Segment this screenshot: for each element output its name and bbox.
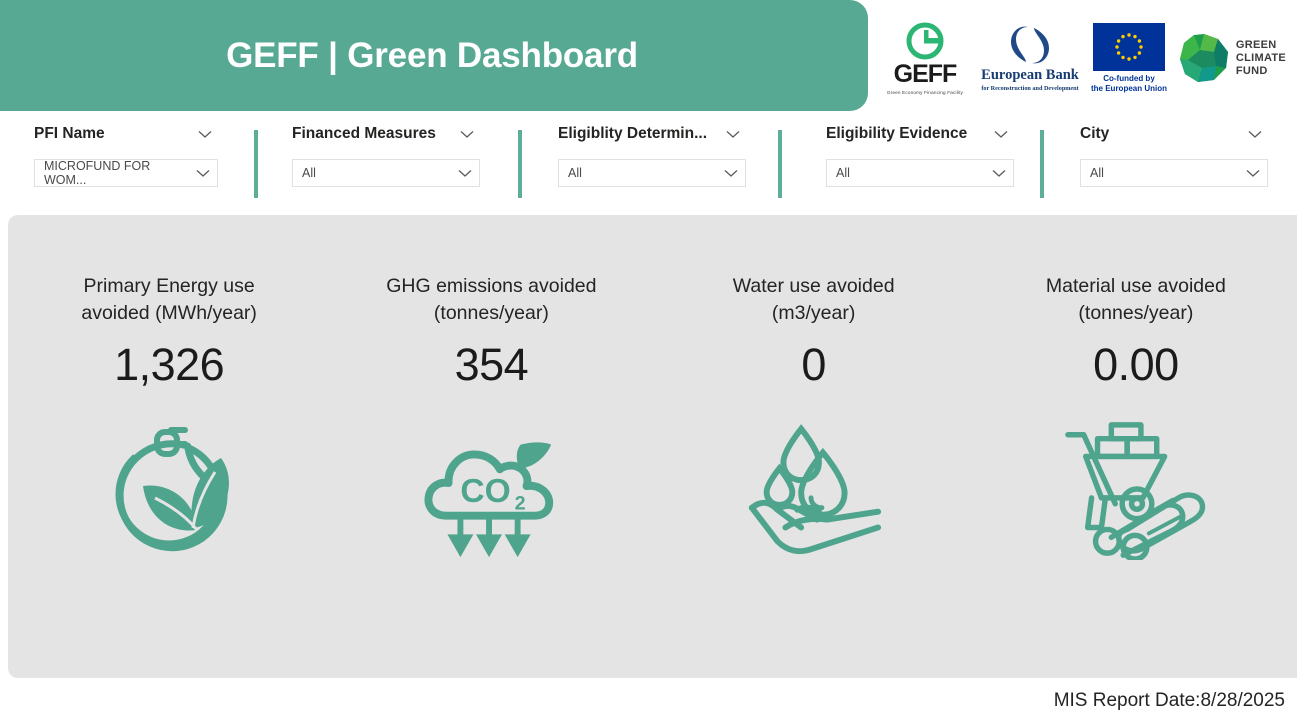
- kpi-card-row: Primary Energy use avoided (MWh/year) 1,…: [8, 215, 1297, 678]
- kpi-card-primary-energy: Primary Energy use avoided (MWh/year) 1,…: [8, 215, 330, 678]
- filter-financed-measures[interactable]: Financed Measures All: [292, 120, 480, 187]
- geff-wordmark: GEFF: [894, 62, 957, 87]
- filter-eligibility-evidence-select[interactable]: All: [826, 159, 1014, 187]
- chevron-down-icon[interactable]: [726, 130, 740, 139]
- filter-label-text: PFI Name: [34, 125, 105, 143]
- filter-separator: [518, 130, 522, 198]
- filter-eligibility-determination-select[interactable]: All: [558, 159, 746, 187]
- eu-caption-line2: the European Union: [1091, 84, 1167, 94]
- energy-plug-leaf-icon: [95, 416, 243, 564]
- gcf-globe-icon: [1178, 32, 1230, 84]
- filter-financed-measures-select[interactable]: All: [292, 159, 480, 187]
- page-title: GEFF | Green Dashboard: [216, 36, 638, 76]
- filter-label-text: Eligiblity Determin...: [558, 125, 707, 143]
- chevron-down-icon[interactable]: [198, 130, 212, 139]
- eu-caption-line1: Co-funded by: [1103, 74, 1155, 84]
- filter-eligibility-evidence[interactable]: Eligibility Evidence All: [826, 120, 1014, 187]
- filter-city[interactable]: City All: [1080, 120, 1268, 187]
- kpi-value: 354: [455, 340, 529, 390]
- filter-separator: [254, 130, 258, 198]
- filter-pfi-name-label: PFI Name: [34, 120, 218, 148]
- svg-text:2: 2: [515, 493, 526, 515]
- filter-eligibility-determination-label: Eligiblity Determin...: [558, 120, 746, 148]
- chevron-down-icon[interactable]: [994, 130, 1008, 139]
- filter-city-label: City: [1080, 120, 1268, 148]
- filter-value-text: All: [568, 166, 582, 180]
- kpi-title: Water use avoided (m3/year): [694, 273, 934, 327]
- ebrd-mark-icon: [1008, 24, 1052, 66]
- kpi-value: 0: [801, 340, 826, 390]
- kpi-title: GHG emissions avoided (tonnes/year): [371, 273, 611, 327]
- filter-value-text: MICROFUND FOR WOM...: [44, 159, 196, 187]
- kpi-card-water-use: Water use avoided (m3/year) 0: [653, 215, 975, 678]
- filter-eligibility-evidence-label: Eligibility Evidence: [826, 120, 1014, 148]
- geff-logo: GEFF Green Economy Financing Facility: [880, 21, 970, 95]
- chevron-down-icon[interactable]: [724, 169, 738, 178]
- kpi-title: Primary Energy use avoided (MWh/year): [49, 273, 289, 327]
- filter-financed-measures-label: Financed Measures: [292, 120, 480, 148]
- chevron-down-icon[interactable]: [1248, 130, 1262, 139]
- svg-text:CO: CO: [461, 473, 511, 510]
- filter-pfi-name-select[interactable]: MICROFUND FOR WOM...: [34, 159, 218, 187]
- report-date-value: 8/28/2025: [1200, 690, 1285, 712]
- water-drop-hand-icon: [740, 416, 888, 564]
- kpi-title: Material use avoided (tonnes/year): [1016, 273, 1256, 327]
- header-band: GEFF | Green Dashboard: [0, 0, 868, 111]
- filter-value-text: All: [302, 166, 316, 180]
- kpi-value: 1,326: [114, 340, 224, 390]
- filter-bar: PFI Name MICROFUND FOR WOM... Financed M…: [0, 120, 1297, 208]
- eu-logo: Co-funded by the European Union: [1090, 23, 1168, 94]
- chevron-down-icon[interactable]: [196, 169, 210, 178]
- filter-label-text: Financed Measures: [292, 125, 436, 143]
- chevron-down-icon[interactable]: [992, 169, 1006, 178]
- gcf-word-line1: GREEN: [1236, 39, 1286, 52]
- kpi-card-ghg-emissions: GHG emissions avoided (tonnes/year) 354 …: [330, 215, 652, 678]
- kpi-card-material-use: Material use avoided (tonnes/year) 0.00: [975, 215, 1297, 678]
- co2-cloud-icon: CO 2: [417, 416, 565, 564]
- logo-strip: GEFF Green Economy Financing Facility Eu…: [880, 8, 1297, 108]
- filter-value-text: All: [836, 166, 850, 180]
- geff-tagline: Green Economy Financing Facility: [887, 90, 963, 95]
- eu-flag-icon: [1093, 23, 1165, 71]
- filter-pfi-name[interactable]: PFI Name MICROFUND FOR WOM...: [34, 120, 218, 187]
- filter-separator: [1040, 130, 1044, 198]
- filter-label-text: City: [1080, 125, 1109, 143]
- kpi-panel: Primary Energy use avoided (MWh/year) 1,…: [8, 215, 1297, 678]
- filter-separator: [778, 130, 782, 198]
- report-date-label: MIS Report Date:: [1054, 690, 1201, 712]
- wheelbarrow-logs-icon: [1062, 416, 1210, 564]
- chevron-down-icon[interactable]: [1246, 169, 1260, 178]
- ebrd-wordmark: European Bank: [981, 68, 1079, 83]
- chevron-down-icon[interactable]: [460, 130, 474, 139]
- gcf-word-line3: FUND: [1236, 65, 1286, 78]
- geff-mark-icon: [905, 21, 945, 61]
- green-climate-fund-logo: GREEN CLIMATE FUND: [1176, 32, 1288, 84]
- filter-label-text: Eligibility Evidence: [826, 125, 967, 143]
- filter-city-select[interactable]: All: [1080, 159, 1268, 187]
- filter-value-text: All: [1090, 166, 1104, 180]
- gcf-wordmark: GREEN CLIMATE FUND: [1236, 39, 1286, 78]
- ebrd-tagline: for Reconstruction and Development: [981, 85, 1078, 92]
- dashboard-root: GEFF | Green Dashboard GEFF Green Econom…: [0, 0, 1297, 725]
- report-date-footer: MIS Report Date: 8/28/2025: [1054, 690, 1285, 712]
- filter-eligibility-determination[interactable]: Eligiblity Determin... All: [558, 120, 746, 187]
- gcf-word-line2: CLIMATE: [1236, 52, 1286, 65]
- chevron-down-icon[interactable]: [458, 169, 472, 178]
- ebrd-logo: European Bank for Reconstruction and Dev…: [978, 24, 1082, 92]
- kpi-value: 0.00: [1093, 340, 1179, 390]
